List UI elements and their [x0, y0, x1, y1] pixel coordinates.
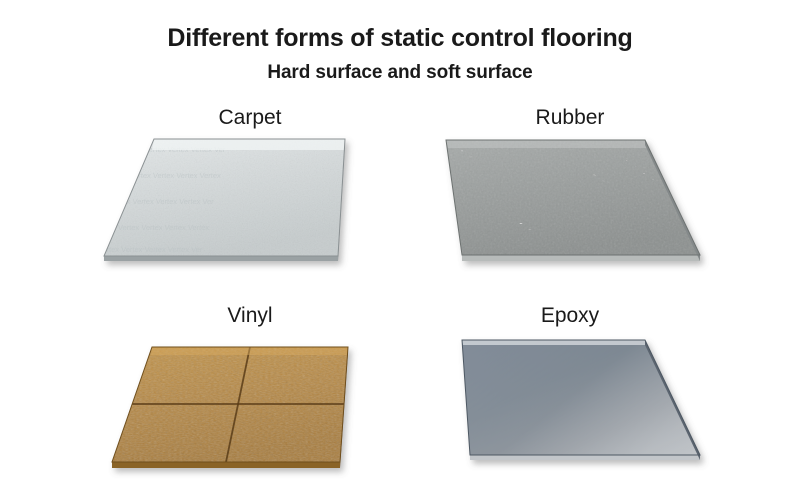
vinyl-base	[112, 347, 348, 462]
svg-text:Vertex Vertex Vertex Vertex: Vertex Vertex Vertex Vertex Vertex Ver	[86, 197, 215, 206]
carpet-base	[104, 139, 345, 256]
rubber-front-edge	[462, 255, 700, 261]
carpet-right-edge	[338, 139, 345, 261]
vinyl-grout-vertical	[226, 347, 250, 462]
epoxy-outline	[462, 340, 700, 455]
panel-label-rubber: Rubber	[420, 106, 720, 130]
svg-text:rtex Vertex Vertex Vertex: rtex Vertex Vertex Vertex Vertex Vertex	[80, 223, 210, 232]
rubber-flecks	[440, 136, 706, 260]
carpet-front-edge	[104, 256, 338, 261]
rubber-outline	[446, 140, 700, 255]
tile-carpet[interactable]: Vertex Vertex Vertex Vertex Vertex Ver r…	[74, 135, 352, 261]
carpet-watermark: Vertex Vertex Vertex Vertex Vertex Ver r…	[74, 145, 226, 254]
carpet-outline	[104, 139, 345, 256]
tile-vinyl[interactable]	[108, 343, 359, 473]
vinyl-front-edge	[112, 462, 340, 468]
rubber-base	[446, 140, 700, 255]
svg-text:rtex Vertex Vertex Vertex: rtex Vertex Vertex Vertex Vertex Vertex	[91, 171, 221, 180]
epoxy-front-edge	[470, 455, 700, 460]
panel-label-vinyl: Vinyl	[100, 304, 400, 328]
tile-epoxy[interactable]	[462, 340, 700, 460]
rubber-texture	[440, 136, 706, 260]
vinyl-outline	[112, 347, 348, 462]
epoxy-base	[462, 340, 700, 455]
panel-label-epoxy: Epoxy	[420, 304, 720, 328]
tile-rubber[interactable]	[440, 136, 719, 268]
rubber-top-sheen	[446, 140, 647, 148]
epoxy-top-highlight	[462, 340, 646, 345]
svg-text:Vertex Vertex Vertex Vertex: Vertex Vertex Vertex Vertex Vertex Ver	[97, 145, 226, 154]
vinyl-right-edge	[340, 347, 348, 468]
page-subtitle: Hard surface and soft surface	[0, 62, 800, 84]
epoxy-sheen	[462, 340, 700, 455]
vinyl-texture	[108, 343, 352, 467]
carpet-top-sheen	[152, 139, 345, 150]
vinyl-top-sheen	[151, 347, 348, 355]
rubber-light-flecks	[453, 144, 719, 268]
panel-label-carpet: Carpet	[100, 106, 400, 130]
rubber-right-edge	[645, 140, 700, 261]
carpet-texture	[100, 135, 352, 261]
page-title: Different forms of static control floori…	[0, 24, 800, 53]
epoxy-right-edge	[645, 340, 700, 460]
flooring-infographic: Different forms of static control floori…	[0, 0, 800, 504]
vinyl-texture-light	[115, 349, 359, 473]
svg-text:Vertex Vertex Vertex Vertex: Vertex Vertex Vertex Vertex Vertex Ver	[74, 245, 203, 254]
